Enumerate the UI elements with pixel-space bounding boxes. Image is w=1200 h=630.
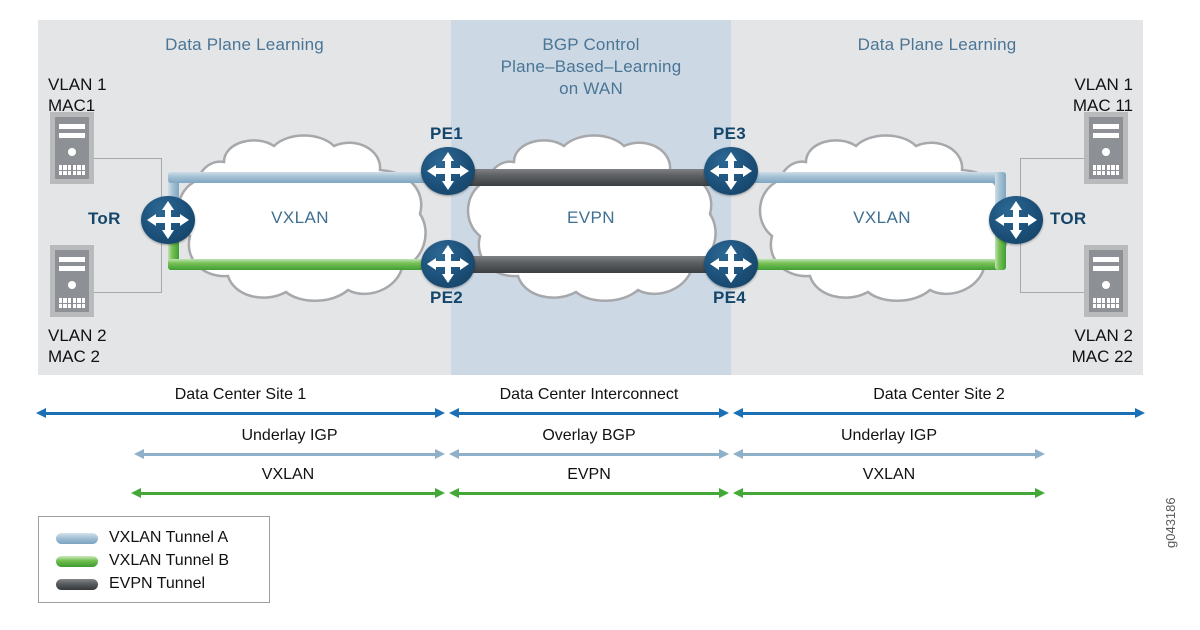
router-label-pe4: PE4: [713, 288, 746, 308]
cloud-label-left: VXLAN: [160, 208, 440, 228]
tunnel-b-right-horizontal: [734, 259, 1006, 270]
arrow-underlay-igp-right: Underlay IGP: [733, 453, 1045, 456]
router-label-pe1: PE1: [430, 124, 463, 144]
arrow-label: VXLAN: [733, 466, 1045, 484]
panel-title-right: Data Plane Learning: [731, 34, 1143, 56]
arrow-head-right: [435, 488, 445, 498]
cloud-label-middle: EVPN: [452, 208, 730, 228]
host-label-vlan2-mac22: VLAN 2 MAC 22: [1072, 325, 1133, 367]
arrow-head-left: [733, 449, 743, 459]
arrow-evpn: EVPN: [449, 492, 729, 495]
arrow-vxlan-left: VXLAN: [131, 492, 445, 495]
server-icon: [50, 245, 94, 317]
tunnel-b-left-horizontal: [168, 259, 448, 270]
server-icon: [1084, 112, 1128, 184]
arrow-data-center-interconnect: Data Center Interconnect: [449, 412, 729, 415]
cloud-evpn: EVPN: [452, 132, 730, 304]
router-icon-tor-right[interactable]: [989, 196, 1043, 244]
arrow-head-right: [1035, 449, 1045, 459]
panel-title-left: Data Plane Learning: [38, 34, 451, 56]
router-label-tor-right: TOR: [1050, 209, 1086, 229]
arrow-head-right: [719, 488, 729, 498]
arrow-label: Data Center Site 1: [36, 386, 445, 404]
legend: VXLAN Tunnel A VXLAN Tunnel B EVPN Tunne…: [38, 516, 270, 603]
arrow-label: Overlay BGP: [449, 427, 729, 445]
tunnel-evpn-lower: [462, 256, 722, 273]
arrow-head-right: [435, 408, 445, 418]
host-label-vlan1-mac11: VLAN 1 MAC 11: [1073, 74, 1133, 116]
arrow-head-right: [719, 449, 729, 459]
panel-title-middle: BGP Control Plane–Based–Learning on WAN: [455, 34, 727, 100]
legend-swatch-vxlan-tunnel-b: [56, 556, 98, 567]
arrow-data-center-site-1: Data Center Site 1: [36, 412, 445, 415]
arrow-head-left: [36, 408, 46, 418]
arrow-head-left: [733, 488, 743, 498]
link-host2-tor: [94, 292, 162, 294]
router-arrows-icon: [704, 240, 758, 288]
legend-label: VXLAN Tunnel B: [109, 552, 229, 570]
router-arrows-icon: [421, 147, 475, 195]
router-icon-pe3[interactable]: [704, 147, 758, 195]
tunnel-a-left-horizontal: [168, 172, 448, 183]
legend-swatch-vxlan-tunnel-a: [56, 533, 98, 544]
arrow-vxlan-right: VXLAN: [733, 492, 1045, 495]
router-label-pe2: PE2: [430, 288, 463, 308]
tunnel-evpn-upper: [462, 169, 722, 186]
router-label-tor-left: ToR: [88, 209, 121, 229]
arrow-label: Underlay IGP: [134, 427, 445, 445]
server-icon: [1084, 245, 1128, 317]
legend-item-vxlan-tunnel-a: VXLAN Tunnel A: [56, 527, 228, 549]
arrow-head-right: [435, 449, 445, 459]
cloud-vxlan-left: VXLAN: [160, 132, 440, 304]
host-label-vlan2-mac2: VLAN 2 MAC 2: [48, 325, 107, 367]
router-icon-pe1[interactable]: [421, 147, 475, 195]
router-arrows-icon: [141, 196, 195, 244]
arrow-head-left: [449, 449, 459, 459]
tunnel-a-right-horizontal: [734, 172, 1006, 183]
arrow-underlay-igp-left: Underlay IGP: [134, 453, 445, 456]
figure-id-watermark: g043186: [1163, 497, 1178, 548]
arrow-label: VXLAN: [131, 466, 445, 484]
legend-item-vxlan-tunnel-b: VXLAN Tunnel B: [56, 550, 229, 572]
server-icon: [50, 112, 94, 184]
arrow-head-left: [131, 488, 141, 498]
router-arrows-icon: [704, 147, 758, 195]
cloud-vxlan-right: VXLAN: [742, 132, 1022, 304]
host-label-vlan1-mac1: VLAN 1 MAC1: [48, 74, 107, 116]
arrow-label: Data Center Interconnect: [449, 386, 729, 404]
arrow-label: Data Center Site 2: [733, 386, 1145, 404]
cloud-label-right: VXLAN: [742, 208, 1022, 228]
arrow-head-left: [134, 449, 144, 459]
arrow-label: EVPN: [449, 466, 729, 484]
arrow-head-right: [719, 408, 729, 418]
router-arrows-icon: [421, 240, 475, 288]
arrow-label: Underlay IGP: [733, 427, 1045, 445]
arrow-overlay-bgp: Overlay BGP: [449, 453, 729, 456]
legend-label: EVPN Tunnel: [109, 575, 205, 593]
router-icon-pe4[interactable]: [704, 240, 758, 288]
legend-swatch-evpn-tunnel: [56, 579, 98, 590]
legend-label: VXLAN Tunnel A: [109, 529, 228, 547]
router-icon-tor-left[interactable]: [141, 196, 195, 244]
arrow-head-left: [449, 408, 459, 418]
legend-item-evpn-tunnel: EVPN Tunnel: [56, 573, 205, 595]
router-label-pe3: PE3: [713, 124, 746, 144]
arrow-head-right: [1135, 408, 1145, 418]
router-icon-pe2[interactable]: [421, 240, 475, 288]
link-host3-tor: [1020, 158, 1086, 160]
router-arrows-icon: [989, 196, 1043, 244]
diagram-canvas: Data Plane Learning BGP Control Plane–Ba…: [0, 0, 1200, 630]
arrow-head-right: [1035, 488, 1045, 498]
arrow-head-left: [449, 488, 459, 498]
arrow-data-center-site-2: Data Center Site 2: [733, 412, 1145, 415]
link-host4-tor: [1020, 292, 1086, 294]
arrow-head-left: [733, 408, 743, 418]
link-host1-tor: [94, 158, 162, 160]
